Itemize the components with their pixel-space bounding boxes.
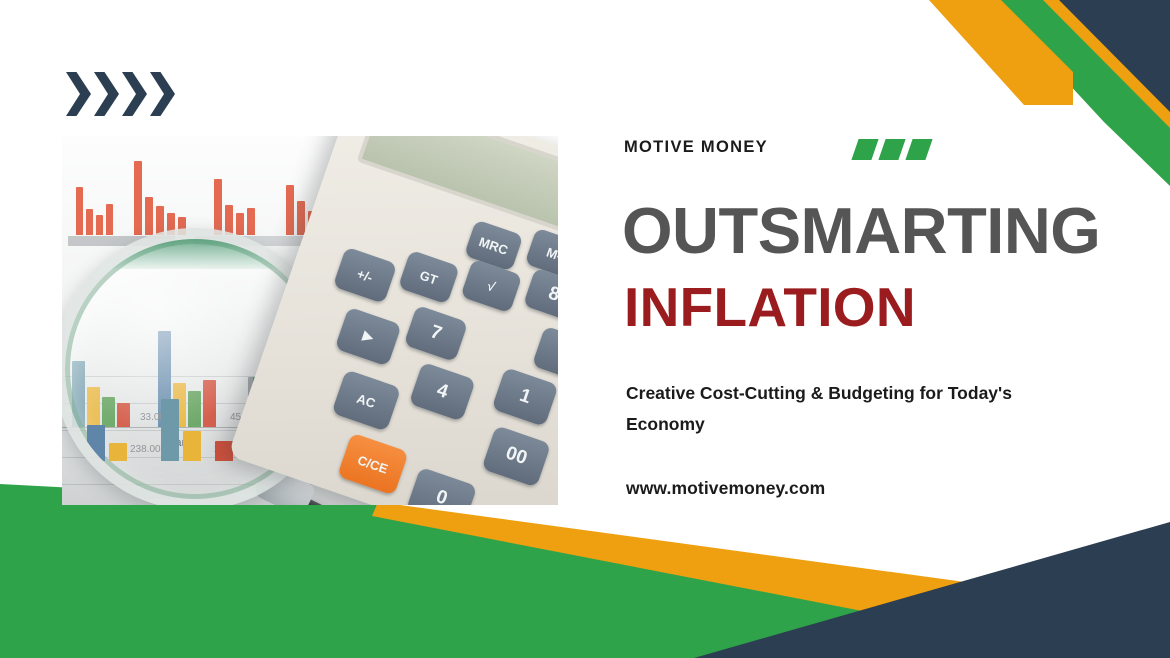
brand-name: MOTIVE MONEY [624, 138, 768, 157]
poster-canvas: Mar Apr May Jun Jul 33.00 45.00 5.46 238… [0, 0, 1170, 658]
chevron-arrows-icon [66, 72, 178, 116]
hero-photo: Mar Apr May Jun Jul 33.00 45.00 5.46 238… [62, 136, 558, 505]
calculator-key-double-zero: 00 [481, 425, 551, 487]
top-right-navy-wedge [1045, 0, 1170, 175]
calculator-key-plus-minus: +/- [333, 247, 398, 304]
calculator-key-ac: AC [331, 369, 401, 431]
calculator-key-gt: GT [398, 250, 460, 305]
top-right-orange-band [929, 0, 1073, 105]
subtitle-text: Creative Cost-Cutting & Budgeting for To… [626, 378, 1076, 439]
calculator-key-5: 5 [532, 326, 558, 383]
website-url[interactable]: www.motivemoney.com [626, 478, 825, 499]
accent-dash-icon [905, 139, 932, 160]
calculator-key-arrow: ▶ [335, 307, 402, 367]
chevron-right-icon [122, 72, 147, 116]
accent-dash-icon [878, 139, 905, 160]
calculator-key-c-ce: C/CE [337, 433, 409, 496]
calculator-key-0: 0 [406, 467, 478, 505]
top-right-orange-thin-band [1023, 0, 1170, 168]
brand-accent-dashes-icon [855, 139, 929, 160]
bottom-left-green-wedge [0, 484, 1170, 658]
headline-primary: OUTSMARTING [622, 198, 1100, 263]
calculator-key-1: 1 [491, 367, 558, 427]
bottom-right-navy-wedge [694, 522, 1170, 658]
calculator-key-8: 8 [523, 267, 558, 322]
headline-secondary: INFLATION [624, 280, 916, 335]
accent-dash-icon [851, 139, 878, 160]
chevron-right-icon [66, 72, 91, 116]
chevron-right-icon [94, 72, 119, 116]
chevron-right-icon [150, 72, 175, 116]
calculator-key-4: 4 [409, 362, 476, 422]
top-right-green-band [991, 0, 1170, 186]
calculator-key-sqrt: √ [460, 259, 522, 314]
calculator-key-7: 7 [404, 305, 469, 362]
bottom-orange-band [372, 502, 1170, 658]
